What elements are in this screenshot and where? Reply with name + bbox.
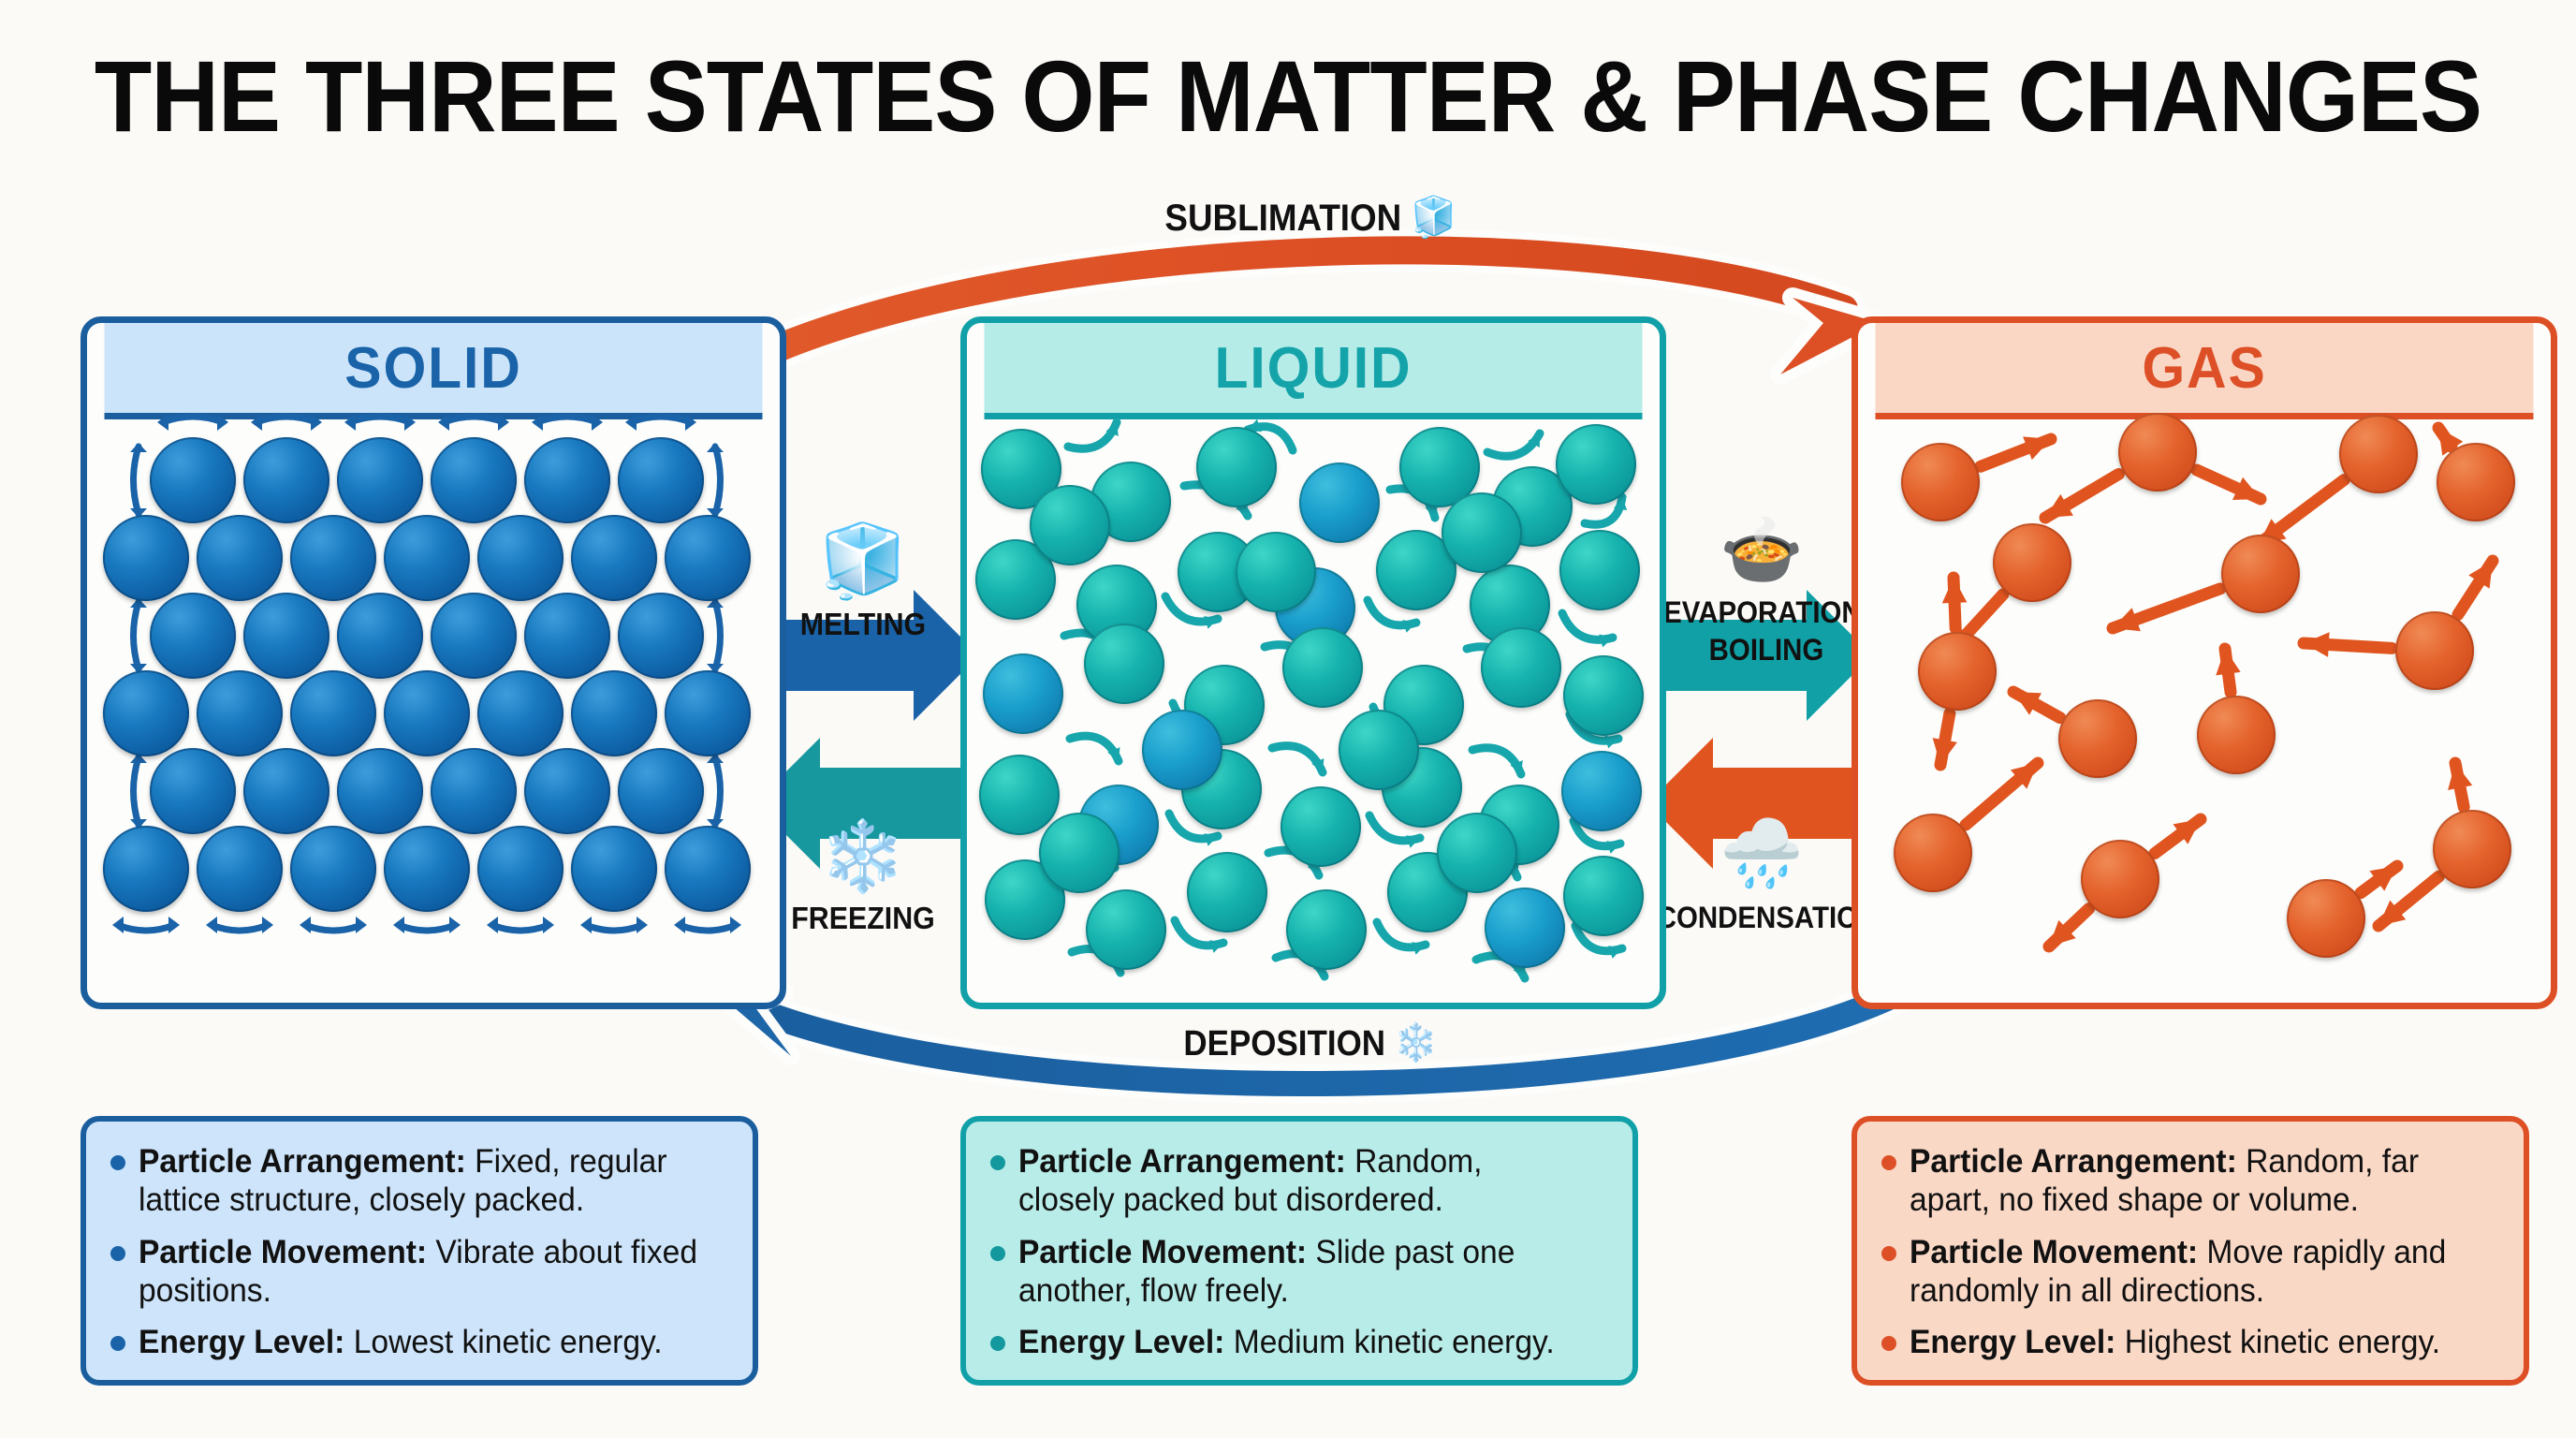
sublimation-label-group: SUBLIMATION 🧊 — [1087, 195, 1534, 241]
gas-particle — [1993, 523, 2071, 602]
info-bullet-text: Energy Level: Medium kinetic energy. — [1018, 1323, 1555, 1361]
info-card-liquid: Particle Arrangement: Random, closely pa… — [960, 1116, 1638, 1386]
gas-particle — [2287, 879, 2365, 958]
liquid-particle — [1561, 751, 1642, 831]
bullet-dot — [1881, 1246, 1896, 1261]
solid-particle — [337, 437, 423, 523]
liquid-particle — [1142, 710, 1222, 790]
freezing-label: FREEZING — [785, 901, 941, 936]
solid-particle — [665, 670, 751, 756]
solid-particle — [431, 437, 517, 523]
solid-particle-diagram — [87, 413, 780, 1003]
solid-particle — [103, 826, 189, 912]
sublimation-label: SUBLIMATION — [1164, 198, 1401, 239]
melting-ice-icon: 🧊 — [798, 526, 929, 597]
solid-particle — [524, 748, 610, 834]
gas-particle — [2395, 611, 2474, 690]
panel-solid-heading: SOLID — [105, 323, 763, 419]
gas-particle — [2058, 699, 2137, 778]
solid-particle — [571, 670, 657, 756]
gas-particle-diagram — [1858, 413, 2551, 1003]
bullet-dot — [990, 1336, 1005, 1351]
liquid-particle-diagram — [967, 413, 1660, 1003]
deposition-label: DEPOSITION — [1183, 1024, 1385, 1064]
info-card-solid: Particle Arrangement: Fixed, regular lat… — [80, 1116, 758, 1386]
solid-particle — [150, 593, 236, 679]
liquid-particle — [1442, 492, 1522, 573]
info-bullet-desc: Highest kinetic energy. — [2115, 1324, 2440, 1360]
info-bullet: Energy Level: Highest kinetic energy. — [1881, 1323, 2499, 1361]
solid-particle — [150, 748, 236, 834]
gas-particle — [2433, 810, 2511, 888]
page-title: THE THREE STATES OF MATTER & PHASE CHANG… — [90, 37, 2485, 154]
bullet-dot — [990, 1155, 1005, 1170]
info-bullet: Particle Movement: Slide past one anothe… — [990, 1233, 1608, 1311]
info-bullet-term: Energy Level: — [1018, 1324, 1224, 1360]
liquid-particle — [1187, 852, 1267, 932]
liquid-particle — [1563, 856, 1644, 936]
liquid-particle — [1286, 889, 1367, 970]
solid-particle — [290, 670, 376, 756]
gas-particle — [2339, 415, 2418, 493]
info-bullet-text: Particle Arrangement: Random, far apart,… — [1910, 1142, 2476, 1220]
info-bullet: Energy Level: Medium kinetic energy. — [990, 1323, 1608, 1361]
info-bullet-text: Particle Movement: Vibrate about fixed p… — [139, 1233, 705, 1311]
ice-cube-icon: 🧊 — [1411, 195, 1456, 239]
solid-particle — [197, 515, 283, 601]
rain-cloud-icon: 🌧️ — [1696, 820, 1827, 888]
liquid-particle — [979, 755, 1060, 835]
solid-particle — [290, 826, 376, 912]
solid-particle — [618, 748, 704, 834]
liquid-particle — [1084, 624, 1164, 704]
gas-particle — [2081, 840, 2159, 918]
info-card-gas: Particle Arrangement: Random, far apart,… — [1851, 1116, 2529, 1386]
liquid-particle — [1485, 888, 1565, 968]
solid-particle — [571, 515, 657, 601]
solid-particle — [243, 437, 329, 523]
bullet-dot — [110, 1336, 125, 1351]
info-bullet-text: Energy Level: Lowest kinetic energy. — [139, 1323, 663, 1361]
solid-particle — [103, 670, 189, 756]
info-bullet: Particle Arrangement: Random, closely pa… — [990, 1142, 1608, 1220]
liquid-particle — [1282, 627, 1363, 708]
solid-particle — [618, 437, 704, 523]
info-bullet: Particle Arrangement: Fixed, regular lat… — [110, 1142, 728, 1220]
gas-particle — [1918, 632, 1997, 711]
liquid-particle — [1086, 889, 1166, 970]
panel-gas[interactable]: GAS — [1851, 316, 2557, 1009]
gas-particle — [2221, 535, 2300, 613]
panel-solid[interactable]: SOLID — [80, 316, 786, 1009]
solid-particle — [243, 748, 329, 834]
solid-particle — [524, 593, 610, 679]
panel-gas-heading: GAS — [1876, 323, 2534, 419]
info-bullet: Particle Arrangement: Random, far apart,… — [1881, 1142, 2499, 1220]
liquid-particle — [1039, 813, 1120, 893]
info-bullet-term: Energy Level: — [1910, 1324, 2115, 1360]
info-bullet-text: Particle Movement: Move rapidly and rand… — [1910, 1233, 2476, 1311]
snowflake-icon: ❄️ — [1395, 1022, 1438, 1064]
info-bullet-term: Particle Arrangement: — [139, 1143, 466, 1180]
bullet-dot — [1881, 1155, 1896, 1170]
liquid-particle — [1236, 532, 1316, 612]
liquid-particle — [1481, 627, 1561, 708]
solid-particle — [431, 593, 517, 679]
bullet-dot — [110, 1246, 125, 1261]
solid-particle — [477, 670, 563, 756]
panel-liquid-heading: LIQUID — [985, 323, 1643, 419]
liquid-particle — [1556, 424, 1636, 505]
liquid-particle — [1299, 462, 1380, 543]
solid-particle — [384, 670, 470, 756]
info-bullet: Energy Level: Lowest kinetic energy. — [110, 1323, 728, 1361]
liquid-particle — [1339, 710, 1419, 790]
info-bullet-term: Particle Movement: — [1018, 1234, 1307, 1270]
solid-particle — [477, 515, 563, 601]
melting-label: MELTING — [785, 607, 941, 642]
solid-particle — [103, 515, 189, 601]
solid-particle — [243, 593, 329, 679]
info-bullet-text: Particle Movement: Slide past one anothe… — [1018, 1233, 1585, 1311]
bullet-dot — [1881, 1336, 1896, 1351]
info-bullet-desc: Lowest kinetic energy. — [344, 1324, 662, 1360]
info-bullet-term: Particle Movement: — [1910, 1234, 2198, 1270]
deposition-label-group: DEPOSITION ❄️ — [1112, 1020, 1508, 1064]
solid-particle — [618, 593, 704, 679]
info-bullet: Particle Movement: Move rapidly and rand… — [1881, 1233, 2499, 1311]
solid-particle — [197, 670, 283, 756]
gas-particle — [1894, 814, 1972, 892]
solid-particle — [384, 826, 470, 912]
solid-particle — [290, 515, 376, 601]
info-bullet-text: Particle Arrangement: Random, closely pa… — [1018, 1142, 1585, 1220]
gas-particle — [2197, 696, 2276, 774]
bullet-dot — [990, 1246, 1005, 1261]
solid-particle — [337, 748, 423, 834]
liquid-particle — [1563, 655, 1644, 736]
info-bullet-term: Particle Movement: — [139, 1234, 427, 1270]
info-bullet: Particle Movement: Vibrate about fixed p… — [110, 1233, 728, 1311]
freezing-snowflake-icon: ❄️ — [798, 822, 929, 891]
liquid-particle — [1437, 813, 1517, 893]
gas-particle — [2437, 443, 2515, 521]
gas-particle — [1901, 443, 1980, 521]
liquid-particle — [1281, 786, 1361, 867]
solid-particle — [150, 437, 236, 523]
solid-particle — [431, 748, 517, 834]
panel-liquid[interactable]: LIQUID — [960, 316, 1666, 1009]
solid-particle — [384, 515, 470, 601]
boiling-pot-icon: 🍲 — [1696, 517, 1827, 584]
bullet-dot — [110, 1155, 125, 1170]
solid-particle — [665, 515, 751, 601]
info-bullet-term: Particle Arrangement: — [1018, 1143, 1346, 1180]
liquid-particle — [1030, 485, 1110, 565]
solid-particle — [665, 826, 751, 912]
liquid-particle — [983, 653, 1063, 734]
info-bullet-desc: Medium kinetic energy. — [1224, 1324, 1554, 1360]
liquid-particle — [1559, 530, 1640, 610]
solid-particle — [524, 437, 610, 523]
solid-particle — [197, 826, 283, 912]
info-bullet-term: Energy Level: — [139, 1324, 344, 1360]
info-bullet-text: Particle Arrangement: Fixed, regular lat… — [139, 1142, 705, 1220]
solid-particle — [337, 593, 423, 679]
solid-particle — [477, 826, 563, 912]
info-bullet-term: Particle Arrangement: — [1910, 1143, 2237, 1180]
gas-particle — [2118, 413, 2197, 492]
solid-particle — [571, 826, 657, 912]
liquid-particle — [1196, 427, 1277, 507]
info-bullet-text: Energy Level: Highest kinetic energy. — [1910, 1323, 2440, 1361]
